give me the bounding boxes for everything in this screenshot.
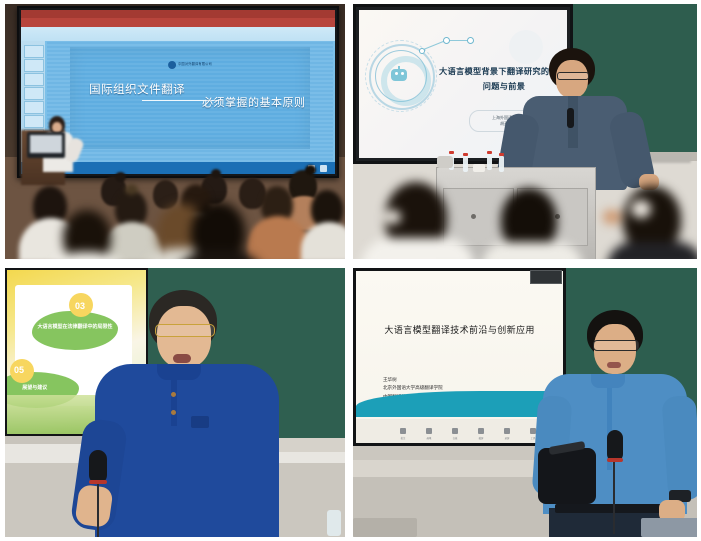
taskbar-label-0[interactable]: 批注	[396, 436, 410, 440]
photo-panel-top-left: 中国对外翻译有限公司 国际组织文件翻译 必须掌握的基本原则	[5, 4, 345, 259]
robot-head-icon	[391, 69, 407, 81]
agenda-number-1: 03	[75, 301, 85, 311]
slide-title-line2: 问题与前景	[439, 80, 567, 92]
powerpoint-titlebar	[21, 10, 335, 18]
network-node-3	[467, 37, 474, 44]
backpack	[538, 448, 596, 504]
robot-eye-left-icon	[395, 72, 398, 75]
powerpoint-ribbon-row	[21, 27, 335, 41]
powerpoint-ribbon-tabs	[21, 18, 335, 27]
photo-panel-top-right: 大语言模型背景下翻译研究的发展： 问题与前景 上海外国语大学 胡开宝	[353, 4, 697, 259]
taskbar-label-1[interactable]: 画笔	[422, 436, 436, 440]
title-slide: 大语言模型翻译技术前沿与创新应用 王华树 北京外国语大学高级翻译学院 中国翻译协…	[356, 271, 563, 443]
display-taskbar[interactable]: 批注 画笔 白板 截屏 录屏 工具 设置 退出	[356, 419, 563, 443]
network-node-1	[419, 48, 425, 54]
decor-circle	[509, 30, 543, 64]
shirt-embroidery-logo	[191, 416, 209, 428]
slide-subtitle: 必须掌握的基本原则	[202, 94, 306, 110]
polo-button-2	[171, 410, 176, 415]
podium-laptop	[27, 132, 65, 158]
handheld-microphone	[89, 450, 107, 484]
robot-icon	[389, 66, 409, 84]
desk-object	[353, 518, 417, 537]
presenter-glasses	[557, 72, 589, 80]
polo-button-1	[171, 392, 176, 397]
laptop	[641, 518, 697, 537]
logo-mark-icon	[168, 61, 176, 69]
agenda-text-2: 展望与建议	[7, 385, 71, 393]
slide-title: 大语言模型翻译技术前沿与创新应用	[356, 323, 563, 336]
presenter-mouth	[607, 362, 621, 368]
photo-collage: 中国对外翻译有限公司 国际组织文件翻译 必须掌握的基本原则	[0, 0, 701, 541]
laptop-screen	[30, 135, 62, 153]
wall-device	[647, 154, 691, 163]
presenter-belt	[555, 504, 675, 513]
microphone-ring	[607, 458, 623, 462]
paper-cup	[473, 164, 485, 172]
photo-panel-bottom-right: 大语言模型翻译技术前沿与创新应用 王华树 北京外国语大学高级翻译学院 中国翻译协…	[353, 268, 697, 537]
network-node-2	[443, 37, 450, 44]
shirt-collar	[591, 374, 625, 388]
company-logo: 中国对外翻译有限公司	[168, 61, 212, 69]
presenter-glasses	[593, 340, 639, 351]
desk-microphone	[437, 156, 453, 168]
polo-collar	[157, 364, 201, 380]
slide-canvas: 中国对外翻译有限公司 国际组织文件翻译 必须掌握的基本原则	[70, 47, 310, 149]
display-camera-bar	[530, 270, 562, 284]
robot-eye-right-icon	[401, 72, 404, 75]
agenda-text-1: 大语言模型在法律翻译中的局限性	[35, 324, 116, 332]
presenter-right-arm	[661, 395, 697, 501]
slide-title-line1: 大语言模型背景下翻译研究的发展：	[439, 65, 567, 77]
photo-panel-bottom-left: 03 大语言模型在法律翻译中的局限性 05 展望与建议	[5, 268, 345, 537]
presenter-glasses	[155, 324, 215, 337]
presenter-left-hand	[74, 484, 113, 528]
taskbar-label-2[interactable]: 白板	[448, 436, 462, 440]
logo-text: 中国对外翻译有限公司	[178, 63, 212, 67]
slide-title: 国际组织文件翻译	[89, 81, 185, 97]
slide-edit-area: 中国对外翻译有限公司 国际组织文件翻译 必须掌握的基本原则	[47, 41, 333, 162]
agenda-number-2: 05	[14, 365, 24, 375]
interactive-display: 大语言模型翻译技术前沿与创新应用 王华树 北京外国语大学高级翻译学院 中国翻译协…	[353, 268, 566, 446]
presenter-mouth	[173, 354, 191, 363]
polo-placket	[171, 380, 177, 426]
microphone-ring	[89, 480, 107, 484]
water-bottle	[327, 510, 341, 536]
lapel-microphone	[567, 108, 574, 128]
taskbar-label-3[interactable]: 截屏	[474, 436, 488, 440]
taskbar-label-4[interactable]: 录屏	[500, 436, 514, 440]
subtitle-line-1: 王华树	[383, 376, 443, 384]
